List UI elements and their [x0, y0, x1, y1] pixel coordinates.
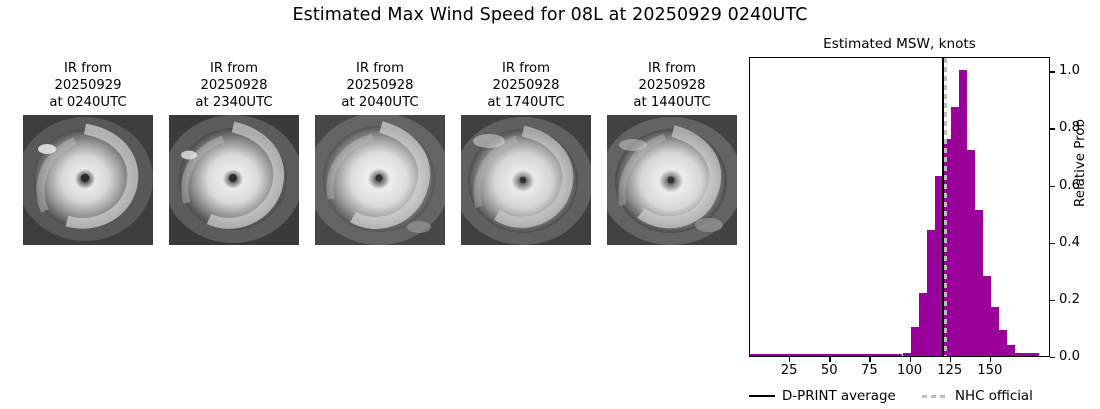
figure-canvas: Estimated Max Wind Speed for 08L at 2025…: [0, 0, 1100, 409]
histogram-bar: [878, 354, 886, 356]
histogram-bar: [798, 354, 806, 356]
x-axis-tick-label: 125: [930, 363, 970, 378]
y-axis-tick: [1050, 128, 1055, 129]
x-axis-tick: [910, 357, 911, 362]
y-axis-tick: [1050, 357, 1055, 358]
histogram-bar: [1007, 345, 1015, 356]
histogram-bar: [1031, 353, 1039, 356]
ir-satellite-image-1: [23, 115, 153, 245]
x-axis-tick-label: 150: [970, 363, 1010, 378]
ir-panel-1: IR from 20250929 at 0240UTC: [20, 60, 156, 245]
legend-entry-dprint-average: D-PRINT average: [749, 386, 896, 406]
y-axis-tick: [1050, 71, 1055, 72]
x-axis-tick: [950, 357, 951, 362]
histogram-bar: [830, 354, 838, 356]
histogram-bar: [975, 210, 983, 356]
ir-satellite-image-3: [315, 115, 445, 245]
x-axis-tick: [869, 357, 870, 362]
histogram-bar: [999, 330, 1007, 356]
histogram-bar: [854, 354, 862, 356]
figure-suptitle: Estimated Max Wind Speed for 08L at 2025…: [0, 5, 1100, 25]
y-axis-tick: [1050, 243, 1055, 244]
histogram-bar: [750, 354, 758, 356]
x-axis-tick-label: 25: [769, 363, 809, 378]
y-axis-tick-label: 0.2: [1059, 293, 1080, 306]
histogram-axes: [749, 57, 1050, 357]
histogram-bar: [806, 354, 814, 356]
histogram-bar: [903, 353, 911, 356]
histogram-bar: [846, 354, 854, 356]
ir-panel-4: IR from 20250928 at 1740UTC: [458, 60, 594, 245]
ir-satellite-image-4: [461, 115, 591, 245]
histogram-bar: [959, 70, 967, 356]
y-axis-tick-label: 0.4: [1059, 236, 1080, 249]
histogram-bar: [919, 293, 927, 356]
histogram-bar: [838, 354, 846, 356]
x-axis-tick: [990, 357, 991, 362]
chart-title: Estimated MSW, knots: [749, 36, 1050, 52]
histogram-bar: [822, 354, 830, 356]
legend-label-dprint-average: D-PRINT average: [782, 389, 896, 404]
histogram-bar: [886, 354, 894, 356]
histogram-bar: [814, 354, 822, 356]
ir-panel-5: IR from 20250928 at 1440UTC: [604, 60, 740, 245]
y-axis-tick: [1050, 300, 1055, 301]
ir-panel-5-caption: IR from 20250928 at 1440UTC: [604, 60, 740, 111]
histogram-bar: [951, 107, 959, 356]
histogram-bar: [870, 354, 878, 356]
histogram-bar: [774, 354, 782, 356]
dashed-line-swatch-icon: [922, 395, 948, 398]
y-axis-tick-label: 1.0: [1059, 64, 1080, 77]
y-axis-tick-label: 0.6: [1059, 179, 1080, 192]
histogram-bar: [911, 327, 919, 356]
ir-panel-3-caption: IR from 20250928 at 2040UTC: [312, 60, 448, 111]
histogram-bar: [927, 230, 935, 356]
histogram-bar: [894, 354, 902, 356]
x-axis-tick-label: 75: [849, 363, 889, 378]
ir-satellite-image-2: [169, 115, 299, 245]
x-axis-tick: [829, 357, 830, 362]
dprint-average-line: [942, 58, 944, 356]
histogram-bar: [983, 276, 991, 356]
solid-line-swatch-icon: [749, 395, 775, 397]
histogram-bar: [1023, 353, 1031, 356]
x-axis-tick-label: 50: [809, 363, 849, 378]
ir-panel-2: IR from 20250928 at 2340UTC: [166, 60, 302, 245]
y-axis-tick: [1050, 186, 1055, 187]
y-axis-tick-label: 0.8: [1059, 121, 1080, 134]
histogram-bar: [967, 150, 975, 356]
ir-satellite-image-5: [607, 115, 737, 245]
legend-entry-nhc-official: NHC official: [922, 386, 1033, 406]
histogram-bar: [991, 307, 999, 356]
histogram-bar: [758, 354, 766, 356]
histogram-bar: [766, 354, 774, 356]
x-axis-tick-label: 100: [890, 363, 930, 378]
legend-label-nhc-official: NHC official: [955, 389, 1033, 404]
histogram-bar: [1015, 353, 1023, 356]
nhc-official-line: [944, 58, 947, 356]
histogram-bar: [862, 354, 870, 356]
ir-panel-2-caption: IR from 20250928 at 2340UTC: [166, 60, 302, 111]
y-axis-tick-label: 0.0: [1059, 350, 1080, 363]
histogram-bar: [782, 354, 790, 356]
ir-panel-1-caption: IR from 20250929 at 0240UTC: [20, 60, 156, 111]
histogram-plot-area: [749, 57, 1050, 357]
x-axis-tick: [789, 357, 790, 362]
ir-panel-3: IR from 20250928 at 2040UTC: [312, 60, 448, 245]
histogram-bar: [790, 354, 798, 356]
chart-legend: D-PRINT average NHC official: [749, 386, 1079, 406]
ir-panel-4-caption: IR from 20250928 at 1740UTC: [458, 60, 594, 111]
